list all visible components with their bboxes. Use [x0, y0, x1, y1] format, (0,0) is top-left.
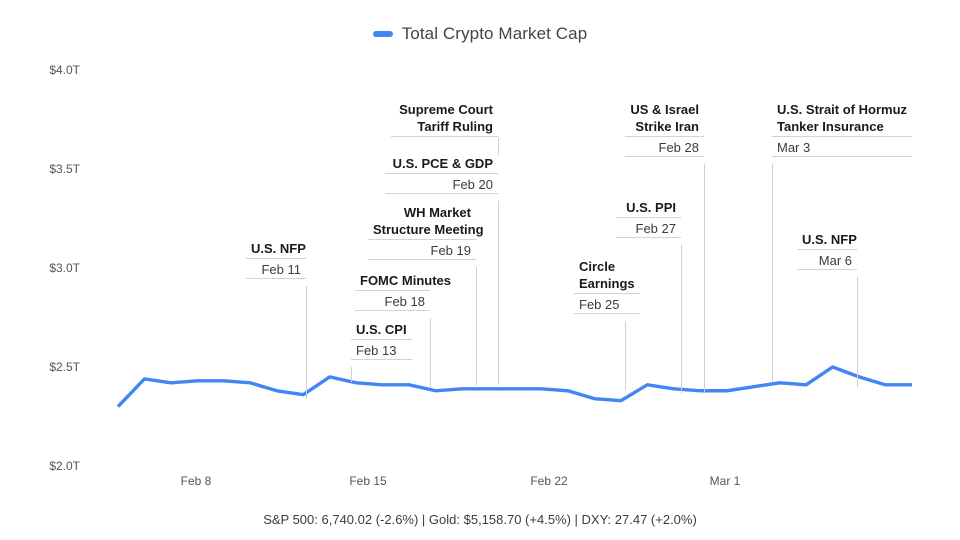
- annotation-leader-line: [704, 164, 705, 393]
- annotation-leader-line: [625, 321, 626, 390]
- annotation-date: Mar 3: [772, 137, 912, 157]
- event-annotation: WH MarketStructure MeetingFeb 19: [368, 204, 476, 260]
- annotation-title: CircleEarnings: [574, 258, 640, 294]
- annotation-title-line2: Structure Meeting: [373, 221, 471, 238]
- annotation-title: U.S. NFP: [797, 231, 857, 250]
- annotation-leader-line: [681, 245, 682, 394]
- event-annotation: U.S. PCE & GDPFeb 20: [385, 155, 498, 194]
- event-annotation: Supreme CourtTariff Ruling: [391, 101, 498, 137]
- footer-market-summary: S&P 500: 6,740.02 (-2.6%) | Gold: $5,158…: [0, 512, 960, 527]
- annotation-title: U.S. Strait of HormuzTanker Insurance: [772, 101, 912, 137]
- annotation-title-line2: Earnings: [579, 275, 635, 292]
- event-annotation: U.S. NFPMar 6: [797, 231, 857, 270]
- event-annotation: U.S. Strait of HormuzTanker InsuranceMar…: [772, 101, 912, 157]
- event-annotation: U.S. NFPFeb 11: [246, 240, 306, 279]
- annotation-leader-line: [306, 286, 307, 399]
- annotation-date: Feb 20: [385, 174, 498, 194]
- annotation-date: Feb 11: [246, 259, 306, 279]
- annotation-title: Supreme CourtTariff Ruling: [391, 101, 498, 137]
- chart-screenshot: Total Crypto Market Cap $2.0T$2.5T$3.0T$…: [0, 0, 960, 540]
- annotation-leader-line: [498, 138, 499, 155]
- annotation-leader-line: [430, 318, 431, 387]
- annotation-title: U.S. NFP: [246, 240, 306, 259]
- annotation-title-line2: Strike Iran: [630, 118, 699, 135]
- annotation-leader-line: [857, 277, 858, 387]
- annotation-date: Feb 27: [616, 218, 681, 238]
- event-annotation: FOMC MinutesFeb 18: [355, 272, 430, 311]
- annotation-title: U.S. CPI: [351, 321, 412, 340]
- event-annotation: U.S. PPIFeb 27: [616, 199, 681, 238]
- annotation-leader-line: [772, 164, 773, 382]
- annotation-date: Feb 13: [351, 340, 412, 360]
- annotation-title: U.S. PPI: [616, 199, 681, 218]
- event-annotation: CircleEarningsFeb 25: [574, 258, 640, 314]
- annotation-title: US & IsraelStrike Iran: [625, 101, 704, 137]
- annotation-date: Feb 28: [625, 137, 704, 157]
- annotation-date: Feb 18: [355, 291, 430, 311]
- annotation-title: U.S. PCE & GDP: [385, 155, 498, 174]
- annotation-leader-line: [351, 367, 352, 382]
- event-annotation: U.S. CPIFeb 13: [351, 321, 412, 360]
- event-annotation: US & IsraelStrike IranFeb 28: [625, 101, 704, 157]
- annotation-date: Mar 6: [797, 250, 857, 270]
- annotation-leader-line: [498, 201, 499, 385]
- series-line-total-crypto-market-cap: [118, 367, 912, 407]
- annotation-title-line2: Tanker Insurance: [777, 118, 907, 135]
- annotation-leader-line: [476, 267, 477, 385]
- annotation-title: FOMC Minutes: [355, 272, 430, 291]
- annotation-date: Feb 19: [368, 240, 476, 260]
- line-plot: [0, 0, 960, 540]
- annotation-title-line2: Tariff Ruling: [396, 118, 493, 135]
- annotation-date: Feb 25: [574, 294, 640, 314]
- annotation-title: WH MarketStructure Meeting: [368, 204, 476, 240]
